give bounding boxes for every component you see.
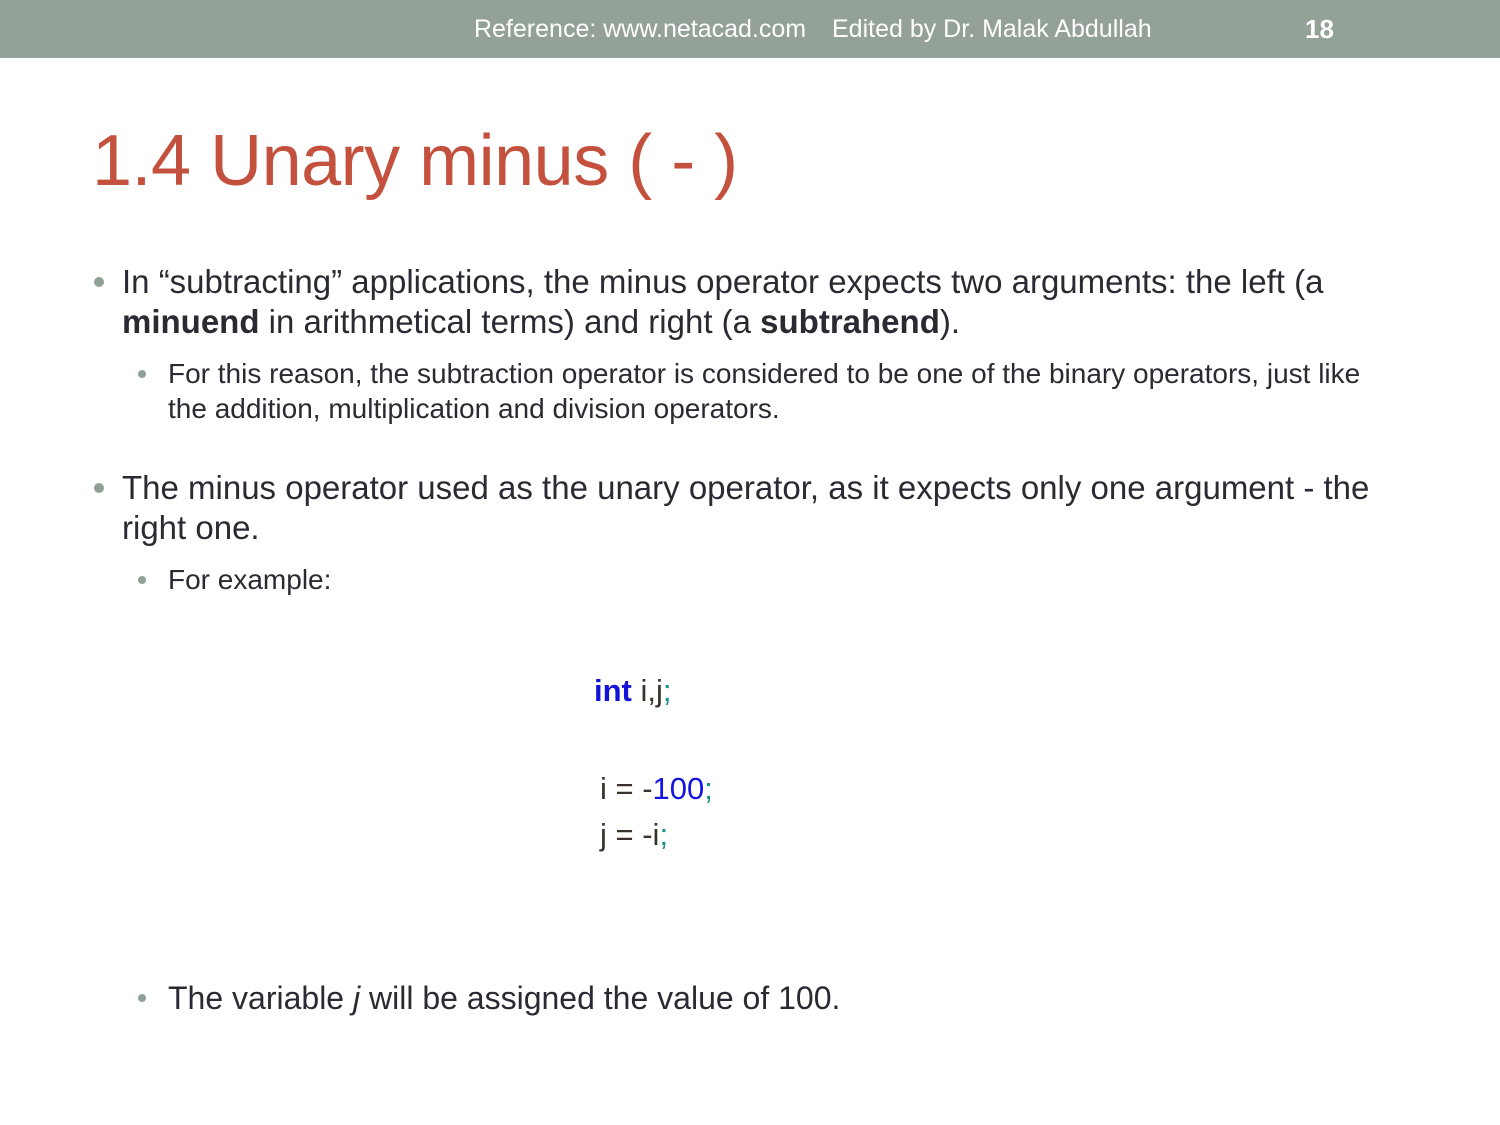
bullet2-sub-text: For example:	[168, 564, 331, 595]
code-assign-prefix: i = -	[600, 771, 653, 806]
bullet1-text-part2: in arithmetical terms) and right (a	[260, 303, 761, 340]
final-text-part1: The variable	[168, 980, 353, 1016]
bullet1-sub-text: For this reason, the subtraction operato…	[168, 358, 1360, 424]
code-number-100: 100	[653, 771, 705, 806]
slide-body: In “subtracting” applications, the minus…	[0, 262, 1500, 597]
final-text-part2: will be assigned the value of 100.	[360, 980, 840, 1016]
final-bullet-area: The variable j will be assigned the valu…	[0, 978, 1500, 1018]
code-line-assign-j: j = -i;	[600, 812, 713, 858]
bullet-dot-icon	[94, 277, 104, 287]
slide: Reference: www.netacad.com Edited by Dr.…	[0, 0, 1500, 1125]
bullet-dot-icon	[94, 483, 104, 493]
bullet-level1-subtracting: In “subtracting” applications, the minus…	[0, 262, 1500, 342]
page-number: 18	[1305, 0, 1334, 58]
bullet1-bold-subtrahend: subtrahend	[760, 303, 940, 340]
code-example-block: int i,j; i = -100; j = -i;	[594, 668, 713, 858]
bullet-dot-icon	[138, 576, 146, 584]
bullet1-bold-minuend: minuend	[122, 303, 260, 340]
code-space	[632, 673, 641, 708]
header-inner: Reference: www.netacad.com Edited by Dr.…	[0, 0, 1500, 58]
bullet-dot-icon	[138, 370, 146, 378]
spacer	[0, 426, 1500, 468]
code-semicolon: ;	[659, 817, 668, 852]
code-line-declaration: int i,j;	[594, 668, 713, 714]
bullet1-text-part1: In “subtracting” applications, the minus…	[122, 263, 1323, 300]
bullet1-text-part3: ).	[940, 303, 960, 340]
code-vars-ij: i,j	[641, 673, 663, 708]
bullet-level2-variable-j: The variable j will be assigned the valu…	[0, 978, 1500, 1018]
code-line-assign-i: i = -100;	[600, 766, 713, 812]
header-band: Reference: www.netacad.com Edited by Dr.…	[0, 0, 1500, 58]
code-semicolon: ;	[663, 673, 672, 708]
code-assign-expr: j = -i	[600, 817, 659, 852]
header-editor-text: Edited by Dr. Malak Abdullah	[832, 0, 1152, 58]
code-keyword-int: int	[594, 673, 632, 708]
bullet-level2-binary-operators: For this reason, the subtraction operato…	[0, 356, 1500, 426]
header-reference-text: Reference: www.netacad.com	[474, 0, 806, 58]
bullet-level1-unary-operator: The minus operator used as the unary ope…	[0, 468, 1500, 548]
code-blank-line	[594, 714, 713, 766]
page-title: 1.4 Unary minus ( - )	[92, 118, 738, 204]
bullet-level2-for-example: For example:	[0, 562, 1500, 597]
bullet2-text: The minus operator used as the unary ope…	[122, 469, 1369, 546]
spacer	[0, 342, 1500, 356]
spacer	[0, 548, 1500, 562]
code-semicolon: ;	[704, 771, 713, 806]
bullet-dot-icon	[138, 994, 146, 1002]
